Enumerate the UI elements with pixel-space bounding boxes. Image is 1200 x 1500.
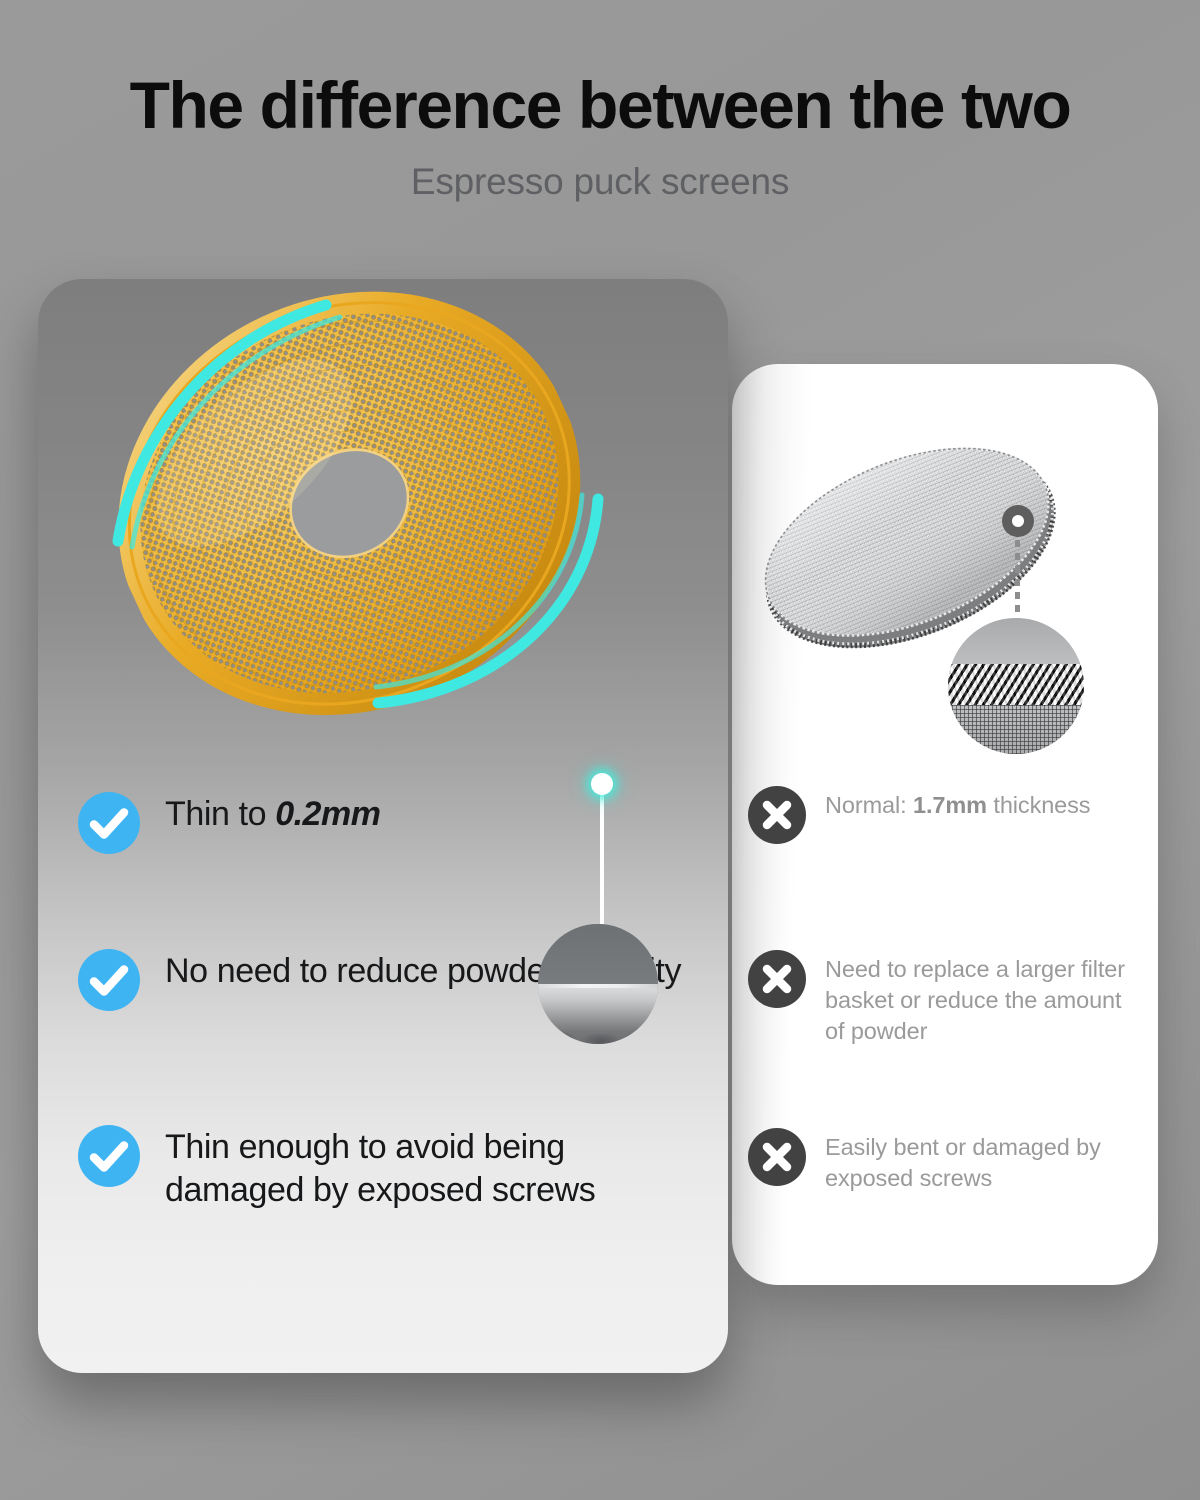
mesh-product-stage: [732, 364, 1158, 784]
x-circle-icon: [748, 950, 806, 1008]
pro-text: Thin enough to avoid being damaged by ex…: [165, 1122, 708, 1212]
x-circle-icon: [748, 786, 806, 844]
con-text-main: Need to replace a larger filter basket o…: [825, 956, 1125, 1044]
gold-perforated-disc-image: [49, 279, 652, 797]
con-text-main: Easily bent or damaged by exposed screws: [825, 1134, 1101, 1191]
pro-text-emphasis: 0.2mm: [275, 795, 380, 833]
con-text: Need to replace a larger filter basket o…: [825, 950, 1144, 1047]
check-circle-icon: [78, 1125, 140, 1187]
pro-text: No need to reduce powder quantity: [165, 946, 681, 993]
pro-text-main: Thin to: [165, 795, 275, 833]
pro-text-main: Thin enough to avoid being damaged by ex…: [165, 1128, 595, 1209]
comparison-cards: Thin to 0.2mm No need to reduce powder q…: [0, 0, 1200, 1500]
check-circle-icon: [78, 792, 140, 854]
gold-product-stage: [38, 279, 728, 779]
list-item: No need to reduce powder quantity: [78, 946, 708, 1011]
check-circle-icon: [78, 949, 140, 1011]
x-circle-icon: [748, 1128, 806, 1186]
list-item: Thin to 0.2mm: [78, 789, 708, 854]
list-item: Need to replace a larger filter basket o…: [732, 950, 1144, 1047]
dot-ring-marker-icon: [1002, 505, 1034, 537]
list-item: Thin enough to avoid being damaged by ex…: [78, 1122, 708, 1212]
con-text-tail: thickness: [987, 792, 1091, 818]
con-text-main: Normal:: [825, 792, 913, 818]
con-text-emphasis: 1.7mm: [913, 792, 987, 818]
gold-disc-wrapper: [49, 279, 652, 797]
pro-text: Thin to 0.2mm: [165, 789, 380, 836]
list-item: Easily bent or damaged by exposed screws: [732, 1128, 1144, 1194]
list-item: Normal: 1.7mm thickness: [732, 786, 1144, 844]
thick-mesh-magnifier-icon: [948, 618, 1084, 754]
con-text: Normal: 1.7mm thickness: [825, 786, 1090, 821]
con-text: Easily bent or damaged by exposed screws: [825, 1128, 1144, 1194]
thin-screen-card: Thin to 0.2mm No need to reduce powder q…: [38, 279, 728, 1373]
pro-text-main: No need to reduce powder quantity: [165, 952, 681, 990]
